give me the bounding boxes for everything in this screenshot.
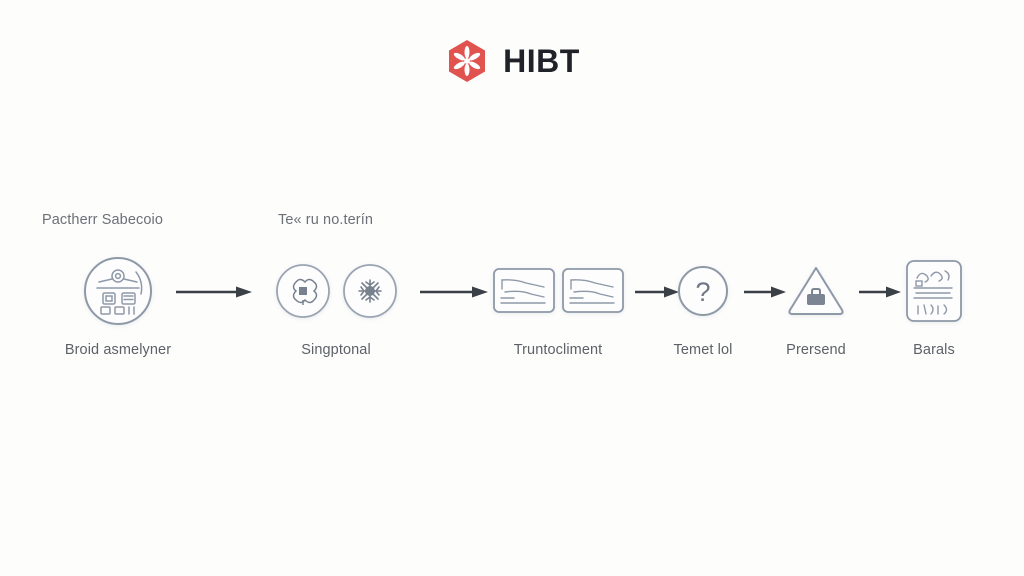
flow-node-4-label: Temet lol: [674, 342, 733, 358]
flow-node-1[interactable]: Broid asmelyner: [38, 252, 198, 358]
flow-node-6-label: Barals: [913, 342, 955, 358]
flow-node-1-art: [79, 252, 157, 330]
flow-node-2-label: Singptonal: [301, 342, 371, 358]
process-flow: Pactherr Sabecoio Te« ru no.terín: [0, 212, 1024, 382]
flow-node-3[interactable]: Truntocliment: [478, 252, 638, 358]
flow-node-5-art: [785, 252, 847, 330]
flow-node-2-art: [272, 252, 401, 330]
flow-node-3-art: [492, 252, 625, 330]
hexagon-flower-logo-icon: [444, 38, 490, 84]
node-row: Broid asmelyner: [0, 252, 1024, 382]
flow-node-5[interactable]: Prersend: [756, 252, 876, 358]
circle-snowflake-gear-icon: [339, 260, 401, 322]
group-caption-2: Te« ru no.terín: [278, 212, 373, 228]
brand-header: HIBT: [0, 38, 1024, 84]
document-card-icon: [492, 265, 556, 317]
diagram-canvas: HIBT Pactherr Sabecoio Te« ru no.terín: [0, 0, 1024, 576]
svg-text:?: ?: [695, 277, 710, 307]
question-mark-circle-icon: ?: [674, 262, 732, 320]
flow-node-5-label: Prersend: [786, 342, 846, 358]
document-card-icon: [561, 265, 625, 317]
flow-node-6[interactable]: Barals: [874, 252, 994, 358]
group-caption-1: Pactherr Sabecoio: [42, 212, 163, 228]
circle-chip-icon: [272, 260, 334, 322]
rounded-square-tools-icon: [904, 258, 964, 324]
flow-node-2[interactable]: Singptonal: [256, 252, 416, 358]
flow-node-4[interactable]: ? Temet lol: [643, 252, 763, 358]
circle-machinery-icon: [79, 252, 157, 330]
flow-node-1-label: Broid asmelyner: [65, 342, 171, 358]
flow-node-3-label: Truntocliment: [514, 342, 603, 358]
flow-node-4-art: ?: [674, 252, 732, 330]
triangle-briefcase-icon: [785, 262, 847, 320]
flow-node-6-art: [904, 252, 964, 330]
brand-name: HIBT: [503, 45, 580, 77]
